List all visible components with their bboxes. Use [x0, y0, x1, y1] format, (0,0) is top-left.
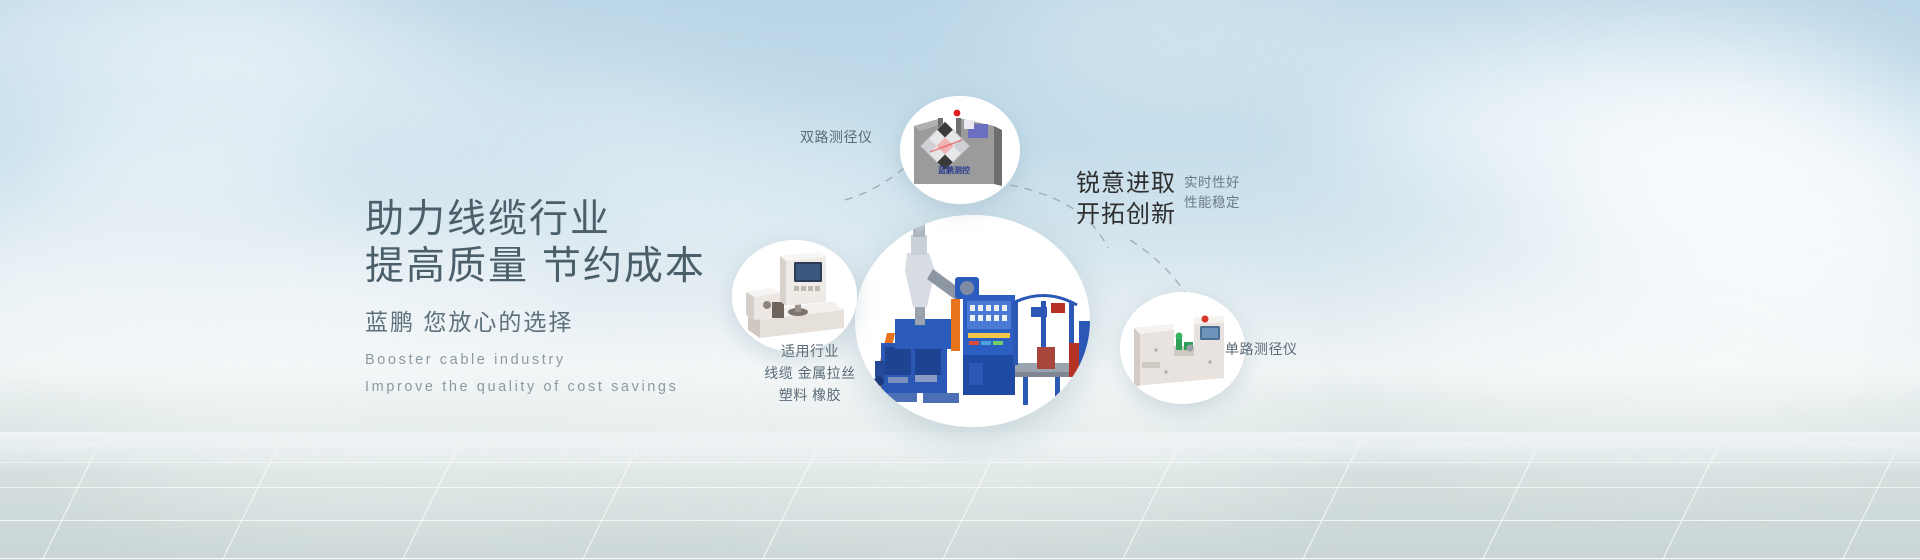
callout-single-gauge: 单路测径仪: [1225, 338, 1298, 360]
bubble-console: [732, 240, 857, 352]
callout-industries-line-2: 塑料 橡胶: [730, 384, 890, 406]
dual-gauge-image: 蓝鹏测控: [900, 96, 1020, 204]
cloud-shape: [30, 120, 330, 215]
bubble-dual-gauge: 蓝鹏测控: [900, 96, 1020, 204]
svg-text:蓝鹏测控: 蓝鹏测控: [938, 165, 970, 175]
bubble-production-line: [855, 215, 1090, 427]
feature-line-1: 实时性好: [1184, 172, 1240, 194]
callout-industries-line-1: 线缆 金属拉丝: [720, 362, 900, 384]
product-cluster: 蓝鹏测控: [700, 0, 1920, 560]
callout-dual-gauge: 双路测径仪: [800, 126, 873, 148]
slogan-line-2: 开拓创新: [1076, 199, 1176, 230]
hero-banner: 助力线缆行业 提高质量 节约成本 蓝鹏 您放心的选择 Booster cable…: [0, 0, 1920, 560]
callout-industries-title: 适用行业: [730, 340, 890, 362]
feature-line-2: 性能稳定: [1184, 192, 1240, 214]
production-line-image: [855, 215, 1090, 427]
console-image: [732, 240, 857, 352]
slogan-line-1: 锐意进取: [1076, 168, 1176, 199]
